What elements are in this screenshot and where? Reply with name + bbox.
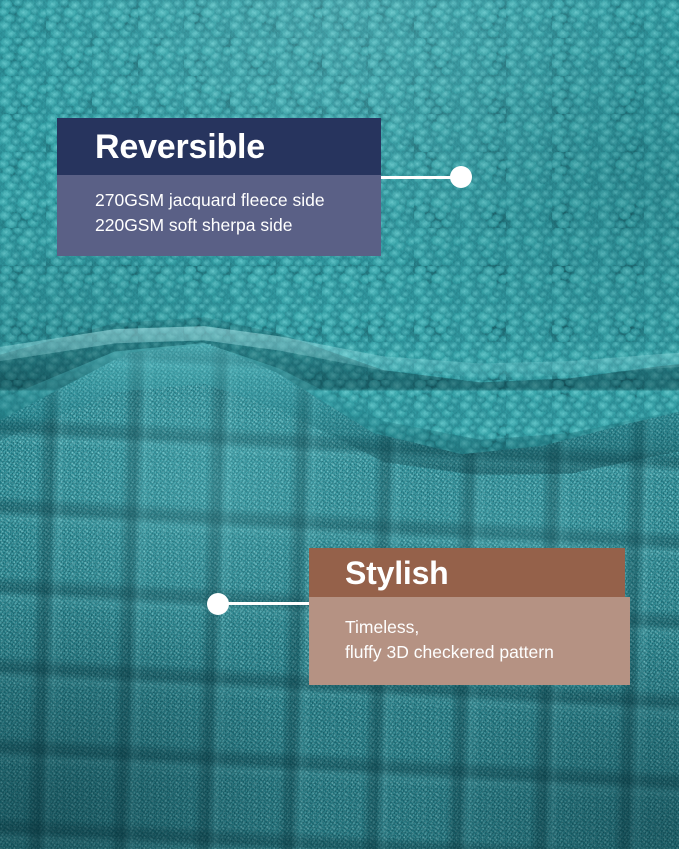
callout-stylish-body: Timeless, fluffy 3D checkered pattern — [309, 597, 630, 685]
callout-reversible-line-2: 220GSM soft sherpa side — [95, 213, 381, 238]
product-feature-image: Reversible 270GSM jacquard fleece side 2… — [0, 0, 679, 849]
callout-stylish-line-1: Timeless, — [345, 615, 630, 640]
callout-reversible-line-1: 270GSM jacquard fleece side — [95, 188, 381, 213]
callout-stylish-header: Stylish — [309, 548, 625, 597]
leader-line-stylish — [228, 602, 312, 605]
leader-dot-reversible — [450, 166, 472, 188]
leader-line-reversible — [378, 176, 456, 179]
callout-reversible: Reversible 270GSM jacquard fleece side 2… — [57, 118, 381, 256]
callout-reversible-body: 270GSM jacquard fleece side 220GSM soft … — [57, 175, 381, 256]
callout-stylish-line-2: fluffy 3D checkered pattern — [345, 640, 630, 665]
leader-dot-stylish — [207, 593, 229, 615]
callout-stylish: Stylish Timeless, fluffy 3D checkered pa… — [309, 548, 630, 685]
callout-stylish-title: Stylish — [345, 557, 449, 589]
callout-reversible-header: Reversible — [57, 118, 381, 175]
callout-reversible-title: Reversible — [95, 130, 265, 164]
